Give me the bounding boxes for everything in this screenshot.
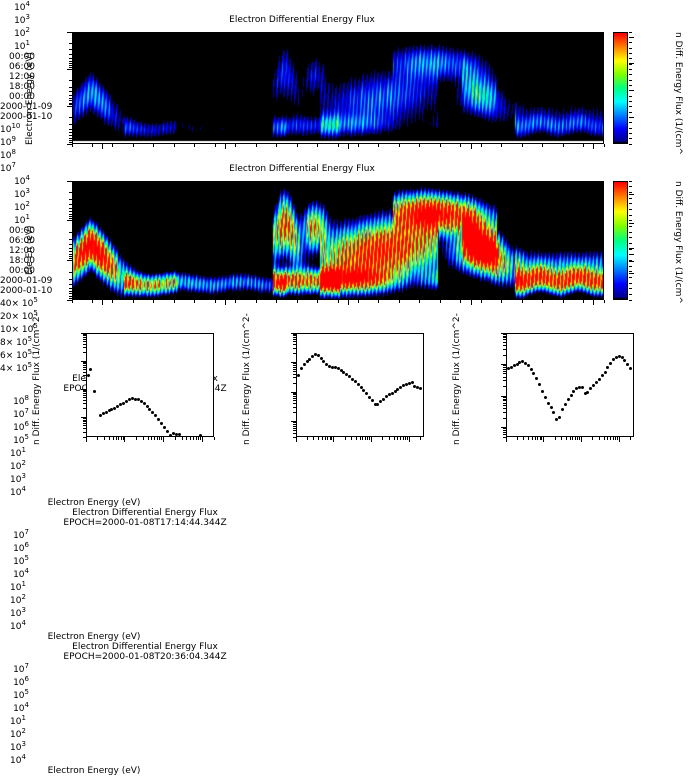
spectrum-2-title: Electron Differential Energy Flux <box>0 508 290 518</box>
top-panel-xtick-label: 00:00 <box>0 92 44 102</box>
middle-panel-cbminor <box>629 226 632 227</box>
spectrum-3-yminor <box>503 428 506 429</box>
spectrum-2-yminor <box>293 335 296 336</box>
data-point <box>303 363 306 366</box>
data-point <box>606 366 609 369</box>
spectrum-2-xminor <box>397 437 398 440</box>
spectrum-2-ytick-label: 105 <box>0 554 29 567</box>
top-panel-yminor <box>69 54 72 55</box>
spectrum-2-xtick <box>371 437 372 442</box>
data-point <box>157 418 160 421</box>
spectrum-1-yminor <box>83 423 86 424</box>
spectrum-1-axes[interactable] <box>86 333 214 437</box>
top-panel-cbminor <box>629 80 632 81</box>
spectrum-3-xminor <box>579 437 580 440</box>
spectrum-2-xminor <box>420 437 421 440</box>
top-panel-yminor <box>69 95 72 96</box>
middle-panel-yminor <box>69 256 72 257</box>
data-point <box>564 403 567 406</box>
spectrum-3-subtitle: EPOCH=2000-01-08T20:36:04.344Z <box>0 652 290 662</box>
middle-panel-cbminor <box>629 203 632 204</box>
data-point <box>371 399 374 402</box>
middle-panel-xtick-label: 06:00 <box>0 236 44 246</box>
middle-panel-ylabel: Ele En (eV) <box>25 225 35 275</box>
data-point <box>411 381 414 384</box>
top-panel-xtick-label: 06:00 <box>0 62 44 72</box>
data-point <box>89 368 92 371</box>
spectrum-3-xminor <box>535 437 536 440</box>
middle-panel-xtick <box>225 300 226 305</box>
middle-panel-xminor <box>378 300 379 303</box>
middle-colorbar-label-wrap: n Diff. Energy Flux (1/(cm^ <box>683 181 697 191</box>
spectrum-2-yminor <box>293 371 296 372</box>
middle-panel-cbminor <box>629 232 632 233</box>
middle-panel-title: Electron Differential Energy Flux <box>0 164 604 174</box>
spectrum-1-xminor <box>113 437 114 440</box>
spectrum-2-xminor <box>367 437 368 440</box>
middle-panel-xtick-label: 18:00 <box>0 256 44 266</box>
spectrum-3-yminor <box>503 403 506 404</box>
spectrum-2-subtitle: EPOCH=2000-01-08T17:14:44.344Z <box>0 518 290 528</box>
middle-panel-axes[interactable] <box>72 181 604 300</box>
spectrum-2-ytick-label: 106 <box>0 541 29 554</box>
spectrum-1-yminor <box>83 420 86 421</box>
top-panel-xtick-label: 12:00 <box>0 72 44 82</box>
spectrum-1-yminor <box>83 395 86 396</box>
data-point <box>626 363 629 366</box>
top-panel-yminor <box>69 132 72 133</box>
middle-panel-yminor <box>69 248 72 249</box>
spectrum-2-xtick <box>409 437 410 442</box>
top-panel-xminor <box>440 144 441 147</box>
top-panel-xminor <box>194 144 195 147</box>
middle-panel-yminor <box>69 284 72 285</box>
spectrum-1-yminor <box>83 432 86 433</box>
top-panel-xminor <box>235 144 236 147</box>
data-point <box>598 378 601 381</box>
spectrum-2-axes[interactable] <box>296 333 424 437</box>
middle-panel-xtick <box>348 300 349 305</box>
top-panel-xminor <box>542 144 543 147</box>
spectrum-1-yminor <box>83 369 86 370</box>
top-panel-yminor <box>69 91 72 92</box>
middle-panel-yminor <box>69 211 72 212</box>
spectrum-2-yminor <box>293 407 296 408</box>
middle-panel-cbminor <box>629 220 632 221</box>
top-panel-yminor <box>69 49 72 50</box>
spectrum-2-yminor <box>293 339 296 340</box>
middle-panel-xminor <box>92 300 93 303</box>
top-panel-cbminor <box>629 74 632 75</box>
middle-panel-ytick-label: 102 <box>0 200 30 213</box>
spectrum-1-xminor <box>97 437 98 440</box>
middle-panel-yminor <box>69 232 72 233</box>
data-point <box>629 367 632 370</box>
spectrum-1-xminor <box>175 437 176 440</box>
top-panel-yminor <box>69 135 72 136</box>
middle-colorbar-gradient <box>614 182 627 299</box>
spectrum-1-yminor <box>83 352 86 353</box>
spectrum-1-yminor <box>83 372 86 373</box>
middle-panel-yminor <box>69 296 72 297</box>
middle-panel-xminor <box>481 300 482 303</box>
spectrum-3-xminor <box>575 437 576 440</box>
spectrum-1-xminor <box>182 437 183 440</box>
spectrum-3-xminor <box>561 437 562 440</box>
data-point <box>93 390 96 393</box>
spectrum-3-xtick-label: 102 <box>0 727 36 740</box>
spectrum-1-yminor <box>83 363 86 364</box>
spectrum-3-xtick <box>543 437 544 442</box>
spectrum-1-xminor <box>159 437 160 440</box>
spectrum-2-xminor <box>307 437 308 440</box>
spectrum-1-yminor <box>83 403 86 404</box>
middle-panel-xminor <box>194 300 195 303</box>
middle-panel-yminor <box>69 288 72 289</box>
middle-panel-cbminor <box>629 198 632 199</box>
data-point <box>308 358 311 361</box>
spectrum-1-yminor <box>83 393 86 394</box>
spectrum-1-xtick-label: 103 <box>0 472 36 485</box>
spectrum-2-yminor <box>293 426 296 427</box>
middle-panel-xminor <box>297 300 298 303</box>
spectrum-2-xtick-label: 103 <box>0 606 36 619</box>
middle-panel-xminor <box>358 300 359 303</box>
top-panel-cbminor <box>629 64 632 65</box>
spectrum-2-yminor <box>293 422 296 423</box>
spectrum-3-yminor <box>503 355 506 356</box>
data-point <box>623 359 626 362</box>
spectrum-3-xminor <box>537 437 538 440</box>
top-panel-xminor <box>563 144 564 147</box>
middle-panel-yminor <box>69 291 72 292</box>
top-panel-yminor <box>69 140 72 141</box>
spectrum-3-xminor <box>528 437 529 440</box>
spectrum-3-xminor <box>607 437 608 440</box>
spectrum-3-yminor <box>503 434 506 435</box>
data-point <box>163 426 166 429</box>
middle-colorbar-label: n Diff. Energy Flux (1/(cm^ <box>673 181 683 304</box>
middle-panel-cbtick <box>629 223 634 224</box>
middle-panel-xminor <box>583 300 584 303</box>
spectrum-3-yminor <box>503 400 506 401</box>
middle-panel-yminor <box>69 244 72 245</box>
data-point <box>572 390 575 393</box>
spectrum-1-yminor <box>83 421 86 422</box>
data-point <box>368 396 371 399</box>
data-point <box>297 374 300 377</box>
top-panel-yminor <box>69 138 72 139</box>
spectrum-1-yminor <box>83 397 86 398</box>
spectrum-2-xminor <box>382 437 383 440</box>
spectrum-1-xtick-label: 102 <box>0 459 36 472</box>
spectrum-3-xminor <box>604 437 605 440</box>
data-point <box>604 371 607 374</box>
spectrum-2-xtick <box>333 437 334 442</box>
spectrum-1-ytick-label: 107 <box>0 407 29 420</box>
data-point <box>581 386 584 389</box>
top-panel-yminor <box>69 103 72 104</box>
spectrum-3-xminor <box>599 437 600 440</box>
data-point <box>419 387 422 390</box>
spectrum-3-xminor <box>572 437 573 440</box>
data-point <box>87 374 90 377</box>
spectrum-2-yminor <box>293 341 296 342</box>
spectrum-1-xminor <box>214 437 215 440</box>
spectrum-3-xtick-label: 104 <box>0 753 36 766</box>
middle-panel-xtick <box>593 300 594 305</box>
spectrum-2-xminor <box>322 437 323 440</box>
spectrum-2-xminor <box>403 437 404 440</box>
spectrum-1-yminor <box>83 334 86 335</box>
data-point <box>382 398 385 401</box>
data-point <box>609 362 612 365</box>
middle-panel-xminor <box>338 300 339 303</box>
top-panel-spectrogram <box>73 33 603 143</box>
spectrum-3-xminor <box>577 437 578 440</box>
spectrum-3-yminor <box>503 386 506 387</box>
spectrum-3-yminor <box>503 371 506 372</box>
middle-panel-cbminor <box>629 260 632 261</box>
top-panel-ytick-label: 104 <box>0 0 30 13</box>
middle-panel-xminor <box>112 300 113 303</box>
middle-panel-date-right: 2000-01-10 <box>0 286 44 296</box>
spectrum-3-xminor <box>555 437 556 440</box>
spectrum-3-yminor <box>503 399 506 400</box>
spectrum-2-xminor <box>330 437 331 440</box>
middle-panel-xminor <box>419 300 420 303</box>
spectrum-2-xminor <box>331 437 332 440</box>
top-panel-ytick-label: 101 <box>0 39 30 52</box>
data-point <box>592 384 595 387</box>
spectrum-3-xtick <box>506 437 507 442</box>
spectrum-3-ylabel-wrap: n Diff. Energy Flux (1/(cm^2- <box>452 445 584 455</box>
middle-panel-yminor <box>69 192 72 193</box>
spectrum-1-xminor <box>118 437 119 440</box>
spectrum-3-yminor <box>503 369 506 370</box>
spectrum-3-yminor <box>503 345 506 346</box>
middle-panel-yminor <box>69 204 72 205</box>
middle-panel-xtick <box>102 300 103 305</box>
middle-panel-yminor <box>69 254 72 255</box>
top-panel-xminor <box>583 144 584 147</box>
middle-panel-cbminor <box>629 254 632 255</box>
top-panel-title: Electron Differential Energy Flux <box>0 15 604 25</box>
spectrum-2-yminor <box>293 374 296 375</box>
spectrum-1-yminor <box>83 344 86 345</box>
spectrum-1-xminor <box>116 437 117 440</box>
spectrum-1-yminor <box>83 428 86 429</box>
top-panel-yminor <box>69 63 72 64</box>
middle-panel-cbminor <box>629 192 632 193</box>
top-panel-date-right: 2000-01-10 <box>0 112 44 122</box>
top-panel-cbminor <box>629 101 632 102</box>
spectrum-3-xtick-label: 101 <box>0 714 36 727</box>
middle-panel-cbminor <box>629 186 632 187</box>
spectrum-1-xminor <box>161 437 162 440</box>
spectrum-2-xtick-label: 104 <box>0 619 36 632</box>
spectrum-2-yminor <box>293 337 296 338</box>
spectrum-3-xminor <box>615 437 616 440</box>
spectrum-2-ylabel: n Diff. Energy Flux (1/(cm^2- <box>242 313 252 445</box>
spectrum-3-yminor <box>503 418 506 419</box>
spectrum-1-yminor <box>83 408 86 409</box>
top-panel-xminor <box>604 144 605 147</box>
top-panel-ytick-label: 102 <box>0 26 30 39</box>
spectrum-3-yminor <box>503 432 506 433</box>
spectrum-2-ylabel-wrap: n Diff. Energy Flux (1/(cm^2- <box>242 445 374 455</box>
spectrum-3-xminor <box>610 437 611 440</box>
middle-panel-colorbar[interactable] <box>613 181 628 300</box>
spectrum-3-yminor <box>503 334 506 335</box>
top-panel-ytick <box>67 106 72 107</box>
top-panel-xminor <box>72 144 73 147</box>
top-panel-xminor <box>378 144 379 147</box>
top-panel-colorbar[interactable] <box>613 32 628 144</box>
data-point <box>148 408 151 411</box>
spectrum-2-yminor <box>293 369 296 370</box>
spectrum-1-xtick <box>202 437 203 442</box>
spectrum-3-yminor <box>503 349 506 350</box>
spectrum-1-yminor <box>83 347 86 348</box>
spectrum-3-yminor <box>503 342 506 343</box>
top-panel-xminor <box>133 144 134 147</box>
spectrum-3-xminor <box>541 437 542 440</box>
top-panel-xminor <box>460 144 461 147</box>
data-point <box>561 408 564 411</box>
top-panel-xminor <box>92 144 93 147</box>
spectrum-2-yminor <box>293 403 296 404</box>
spectrum-2-yminor <box>293 348 296 349</box>
spectrum-2-xminor <box>351 437 352 440</box>
data-point <box>154 414 157 417</box>
spectrum-1-yminor <box>83 337 86 338</box>
middle-panel-spectrogram <box>73 182 603 299</box>
middle-panel-ytick-label: 103 <box>0 187 30 200</box>
top-panel-cbminor <box>629 106 632 107</box>
spectrum-3-xminor <box>532 437 533 440</box>
data-point <box>558 416 561 419</box>
spectrum-1-xtick <box>163 437 164 442</box>
middle-panel-ytick <box>67 260 72 261</box>
top-panel-cbminor <box>629 122 632 123</box>
middle-panel-xminor <box>235 300 236 303</box>
top-colorbar-label: n Diff. Energy Flux (1/(cm^ <box>673 32 683 155</box>
middle-panel-cbminor <box>629 277 632 278</box>
top-panel-cbminor <box>629 138 632 139</box>
top-panel-axes[interactable] <box>72 32 604 144</box>
top-panel-xminor <box>153 144 154 147</box>
data-point <box>535 377 538 380</box>
middle-panel-xminor <box>256 300 257 303</box>
top-panel-xtick <box>102 144 103 149</box>
spectrum-1-xminor <box>154 437 155 440</box>
spectrum-1-xminor <box>151 437 152 440</box>
top-panel-cbminor <box>629 53 632 54</box>
spectrum-1-ytick-label: 108 <box>0 394 29 407</box>
data-point <box>567 398 570 401</box>
top-panel-cbminor <box>629 96 632 97</box>
spectrum-3-yminor <box>503 408 506 409</box>
spectrum-1-yminor <box>83 365 86 366</box>
spectrum-3-xminor <box>630 437 631 440</box>
middle-panel-yminor <box>69 216 72 217</box>
spectrum-1-ylabel-wrap: n Diff. Energy Flux (1/(cm^2- <box>32 445 164 455</box>
spectrum-3-yminor <box>503 397 506 398</box>
data-point <box>544 396 547 399</box>
spectrum-3-ytick-label: 107 <box>0 662 29 675</box>
middle-panel-yminor <box>69 279 72 280</box>
spectrum-1-xminor <box>104 437 105 440</box>
data-point <box>105 411 108 414</box>
middle-panel-yminor <box>69 199 72 200</box>
middle-panel-cbminor <box>629 243 632 244</box>
middle-panel-cbminor <box>629 271 632 272</box>
spectrum-1-ylabel: n Diff. Energy Flux (1/(cm^2- <box>32 313 42 445</box>
top-panel-yminor <box>69 61 72 62</box>
data-point <box>589 387 592 390</box>
middle-panel-yminor <box>69 293 72 294</box>
spectrum-2-xminor <box>365 437 366 440</box>
middle-panel-cbminor <box>629 215 632 216</box>
spectrum-3-axes[interactable] <box>506 333 634 437</box>
middle-panel-xminor <box>133 300 134 303</box>
spectrum-1-xminor <box>123 437 124 440</box>
middle-panel-xtick <box>471 300 472 305</box>
top-panel-yminor <box>69 124 72 125</box>
data-point <box>143 402 146 405</box>
top-panel-yminor <box>69 100 72 101</box>
top-panel-xminor <box>419 144 420 147</box>
spectrum-2-yminor <box>293 424 296 425</box>
middle-panel-ytick-label: 104 <box>0 174 30 187</box>
middle-panel-cbtick <box>629 261 634 262</box>
middle-panel-xminor <box>215 300 216 303</box>
data-point <box>538 383 541 386</box>
spectrum-1-yminor <box>83 380 86 381</box>
spectrum-1-xtick <box>86 437 87 442</box>
spectrum-2-yminor <box>293 383 296 384</box>
spectrum-2-xminor <box>325 437 326 440</box>
middle-panel-xminor <box>440 300 441 303</box>
spectrum-2-xminor <box>356 437 357 440</box>
top-panel-xminor <box>317 144 318 147</box>
spectrum-2-yminor <box>293 393 296 394</box>
spectrum-1-xminor <box>136 437 137 440</box>
middle-panel-yminor <box>69 239 72 240</box>
middle-panel-yminor <box>69 208 72 209</box>
spectrum-1-ytick-label: 106 <box>0 420 29 433</box>
data-point <box>595 381 598 384</box>
middle-panel-yminor <box>69 214 72 215</box>
spectrum-3-xminor <box>517 437 518 440</box>
middle-panel-xtick-label: 12:00 <box>0 246 44 256</box>
spectrum-2-xminor <box>362 437 363 440</box>
top-panel-xtick <box>348 144 349 149</box>
spectrum-1-yminor <box>83 391 86 392</box>
data-point <box>552 411 555 414</box>
spectrum-1-yminor <box>83 390 86 391</box>
top-panel-ytick <box>67 69 72 70</box>
top-panel-xminor <box>338 144 339 147</box>
spectrum-1-xminor <box>157 437 158 440</box>
middle-panel-xminor <box>522 300 523 303</box>
data-point <box>541 390 544 393</box>
spectrum-1-xtick-label: 101 <box>0 446 36 459</box>
middle-panel-xminor <box>501 300 502 303</box>
top-panel-yminor <box>69 98 72 99</box>
middle-panel-ytick <box>67 220 72 221</box>
